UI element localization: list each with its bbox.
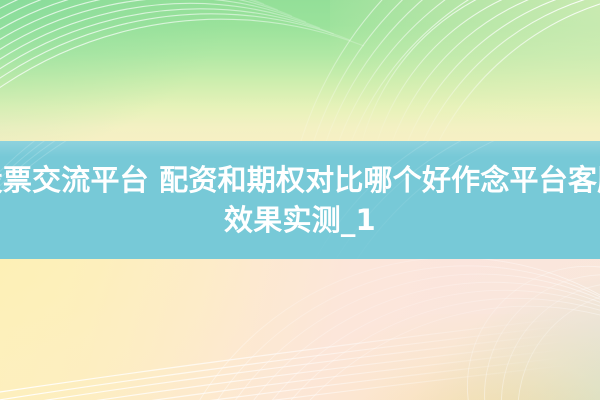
top-right-yellow-tint	[330, 0, 600, 141]
promo-banner: 股票交流平台 配资和期权对比哪个好作念平台客服 效果实测_1	[0, 0, 600, 400]
banner-title-line-2: 效果实测_1	[224, 200, 376, 240]
teal-title-band: 股票交流平台 配资和期权对比哪个好作念平台客服 效果实测_1	[0, 141, 600, 259]
banner-title: 股票交流平台 配资和期权对比哪个好作念平台客服 效果实测_1	[0, 141, 600, 259]
banner-title-line-1: 股票交流平台 配资和期权对比哪个好作念平台客服	[0, 160, 600, 200]
top-gradient-band	[0, 0, 600, 141]
top-left-green-tint	[0, 0, 240, 141]
bottom-left-yellow-tint	[0, 259, 250, 400]
bottom-gold-streak	[280, 314, 600, 400]
bottom-gradient-band	[0, 259, 600, 400]
